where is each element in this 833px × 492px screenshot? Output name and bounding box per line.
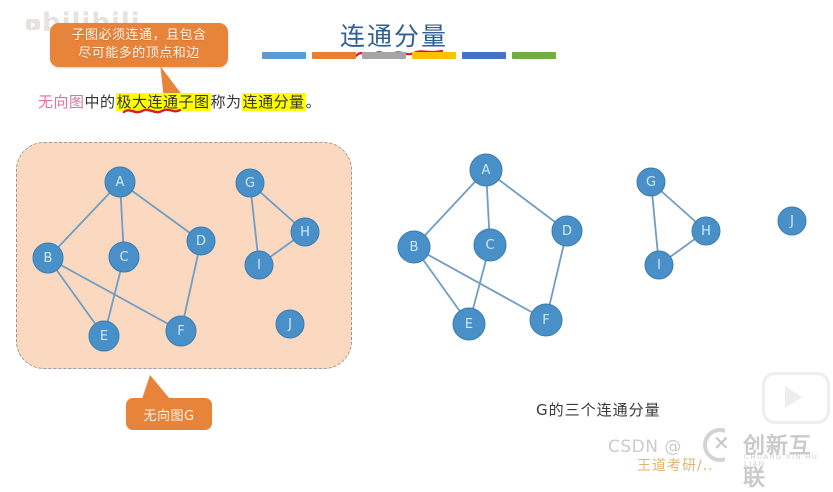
callout-graph-g-label: 无向图G [126,405,212,424]
graph-right-node-label-D: D [562,224,572,239]
graph-left-node-label-E: E [100,329,108,344]
graph-right-nodes: ABCDEFGHIJ [398,154,806,340]
graph-left-node-label-J: J [287,317,292,332]
csdn-watermark: CSDN @ [608,437,682,457]
graph-right-node-E: E [453,308,485,340]
graph-left-node-I: I [245,251,273,279]
graph-left-nodes: ABCDEFGHIJ [33,167,319,351]
graph-right-node-label-I: I [657,258,661,273]
graph-right-node-I: I [645,251,673,279]
graph-left-node-label-C: C [119,250,128,265]
graph-right-edges [414,170,706,324]
graph-right-node-label-H: H [701,224,711,239]
graph-left-node-label-G: G [245,176,255,191]
graph-right-node-G: G [637,168,665,196]
graph-right-node-C: C [474,229,506,261]
graph-left-node-D: D [187,227,215,255]
graph-left-node-H: H [291,218,319,246]
graph-right-node-label-C: C [485,238,494,253]
graph-left-node-label-B: B [44,251,53,266]
graph-left-node-E: E [89,321,119,351]
graph-right-node-A: A [470,154,502,186]
graph-right-node-label-F: F [542,313,549,328]
graph-right-node-label-J: J [789,214,794,229]
graph-left-node-G: G [236,169,264,197]
brand-name-en: CHUANG XIN HU LIAN [744,454,833,468]
graph-right-node-label-A: A [482,163,491,178]
play-button-watermark-icon [762,372,830,424]
graph-left-node-label-F: F [177,324,184,339]
callout-graph-g: 无向图G [126,398,212,430]
graph-left-node-B: B [33,243,63,273]
graph-right-node-F: F [530,304,562,336]
graph-right-node-H: H [692,217,720,245]
slide-canvas: bilibili 连通分量 子图必须连通，且包含 尽可能多的顶点和边 无向图中的… [0,0,833,474]
brand-logo-icon [703,428,737,462]
graph-left-node-F: F [166,316,196,346]
graph-left-node-C: C [109,242,139,272]
graph-left-node-label-I: I [257,258,261,273]
graph-left-node-A: A [105,167,135,197]
brand-watermark: 创新互联 CHUANG XIN HU LIAN [703,424,833,470]
right-graph-caption: G的三个连通分量 [536,399,661,420]
graph-right-node-label-E: E [465,317,473,332]
graph-left-node-label-A: A [116,175,125,190]
graph-right-node-label-G: G [646,175,656,190]
callout-graph-g-tail [142,375,170,399]
graph-right-node-D: D [552,216,582,246]
graph-left-node-label-H: H [300,225,310,240]
graph-right-node-label-B: B [410,240,419,255]
graph-left-node-label-D: D [196,234,206,249]
graph-left-edge-AB [48,182,120,258]
graph-right-node-J: J [778,207,806,235]
graph-left-node-J: J [276,310,304,338]
graph-right-node-B: B [398,231,430,263]
graph-left: ABCDEFGHIJ ABCDEFGHIJ [0,0,833,474]
